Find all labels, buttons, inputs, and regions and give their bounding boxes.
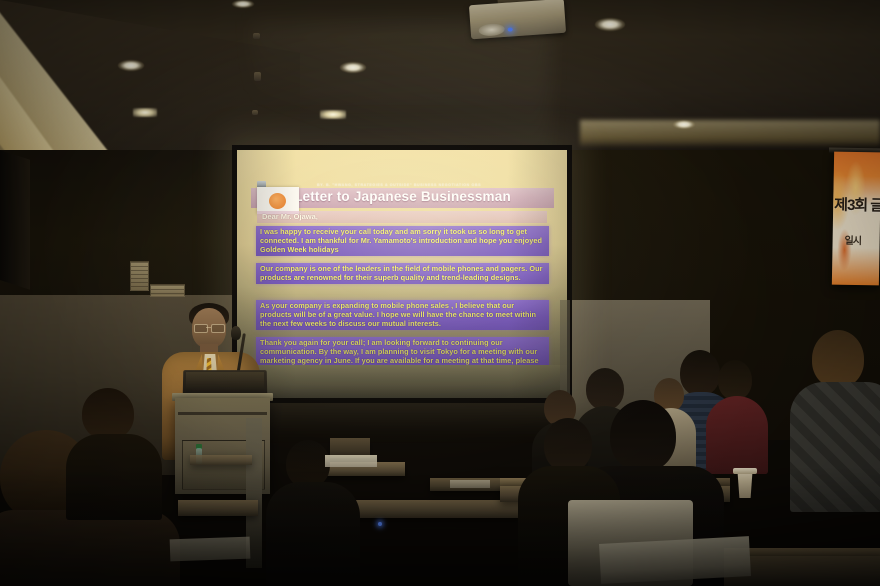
audience-head	[610, 400, 676, 472]
ceiling-downlight-icon	[673, 120, 695, 129]
glasses-icon	[194, 324, 224, 331]
wall-pillar-left	[0, 150, 30, 290]
banner-subtitle-text: 일시	[845, 232, 880, 248]
equipment-led-indicator	[378, 522, 382, 526]
audience-head	[812, 330, 864, 388]
audience-body	[66, 434, 162, 520]
ceiling-projector	[469, 0, 566, 39]
audience-body-plaid-coat	[790, 382, 880, 512]
ceiling-downlight-icon	[595, 18, 625, 31]
laptop-screen	[186, 372, 264, 392]
sign-text-lines	[151, 285, 184, 296]
sprinkler-head-icon	[254, 72, 261, 81]
podium-shelf	[178, 412, 267, 415]
presentation-room-photo: 제3회 글로 일시 BY. B. "HWANG, STRATEGIES & OU…	[0, 0, 880, 586]
projector-power-led	[508, 27, 513, 31]
slide-paragraph: I was happy to receive your call today a…	[256, 226, 549, 256]
slide-paragraph-text: I was happy to receive your call today a…	[256, 226, 549, 256]
coffee-cup[interactable]	[735, 470, 755, 498]
banner-flame-graphic-icon	[832, 160, 876, 281]
ceiling-spotlight-icon	[320, 110, 346, 119]
projector-lens-icon	[478, 23, 505, 37]
ceiling-downlight-icon	[232, 0, 254, 8]
slide-header-text: BY. B. "HWANG, STRATEGIES & OUTSIDE" BUS…	[317, 183, 557, 187]
microphone-head-icon	[231, 326, 241, 340]
slide-paragraph: Our company is one of the leaders in the…	[256, 263, 549, 284]
slide-paragraph: As your company is expanding to mobile p…	[256, 300, 549, 330]
wall-notice-poster	[130, 261, 149, 291]
audience-body	[0, 510, 180, 586]
audience-body	[266, 482, 360, 586]
audience-head	[544, 418, 592, 472]
sprinkler-head-icon	[252, 110, 258, 115]
slide-greeting-line: Dear Mr. Ojawa,	[257, 211, 547, 223]
audience-head	[82, 388, 134, 440]
presentation-slide: BY. B. "HWANG, STRATEGIES & OUTSIDE" BUS…	[237, 150, 567, 365]
audience-head	[286, 440, 330, 488]
event-banner: 제3회 글로 일시	[832, 152, 880, 286]
ceiling-spotlight-icon	[133, 108, 157, 117]
wall-room-sign	[150, 284, 185, 297]
cove-light-right	[580, 120, 880, 146]
flag-sun-disc	[269, 193, 286, 209]
wall-upper-left	[0, 150, 250, 300]
slide-greeting-text: Dear Mr. Ojawa,	[262, 212, 318, 221]
ceiling-downlight-icon	[340, 62, 366, 73]
audience-head	[718, 360, 752, 400]
banner-title-text: 제3회 글로	[834, 194, 880, 216]
audience-member-foreground	[806, 330, 880, 500]
handout-papers[interactable]	[325, 455, 377, 467]
slide-paragraph-text: Our company is one of the leaders in the…	[256, 263, 549, 284]
coffee-cup-lid	[733, 468, 757, 474]
handout-papers[interactable]	[450, 480, 490, 488]
projection-screen[interactable]: BY. B. "HWANG, STRATEGIES & OUTSIDE" BUS…	[237, 150, 567, 398]
ceiling-downlight-icon	[118, 60, 144, 71]
handout-papers[interactable]	[599, 536, 751, 584]
table	[190, 455, 252, 465]
table	[178, 500, 258, 516]
audience-member	[712, 360, 762, 470]
handout-papers[interactable]	[170, 537, 251, 562]
audience-member	[72, 388, 152, 508]
poster-text-lines	[131, 262, 148, 290]
sprinkler-head-icon	[253, 33, 260, 39]
japan-flag-icon	[257, 187, 299, 214]
screen-blank-area	[237, 365, 567, 398]
audience-body	[706, 396, 768, 474]
slide-paragraph-text: As your company is expanding to mobile p…	[256, 300, 549, 330]
